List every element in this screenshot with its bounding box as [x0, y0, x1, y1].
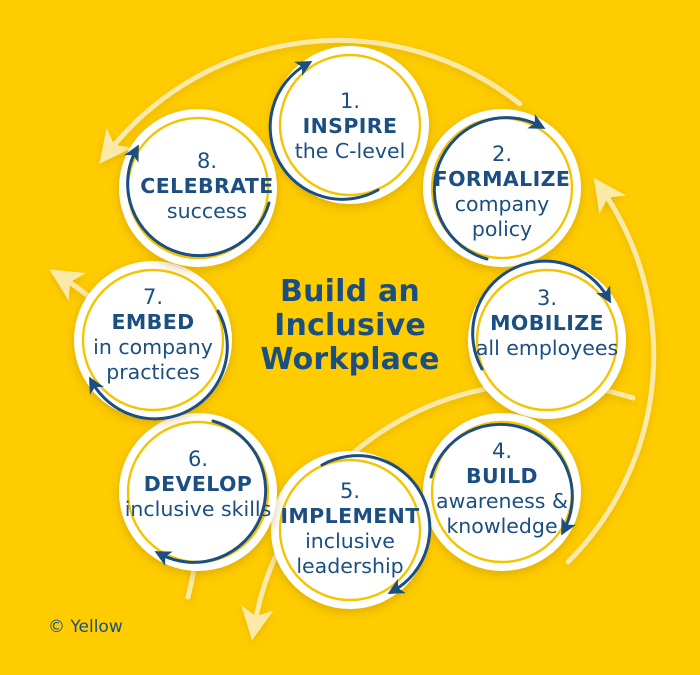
node-3-keyword: MOBILIZE: [490, 311, 604, 335]
cycle-node-3[interactable]: 3. MOBILIZE all employees: [468, 261, 626, 419]
node-4-description-line-1: awareness &: [436, 489, 568, 513]
node-7-number: 7.: [143, 285, 163, 309]
node-5-keyword: IMPLEMENT: [280, 504, 419, 528]
node-7-keyword: EMBED: [111, 310, 194, 334]
node-2-description-line-1: company: [455, 192, 549, 216]
center-title-line-2: Inclusive: [274, 308, 426, 343]
infographic-canvas: 1. INSPIRE the C-level 2. FORMALIZE comp…: [0, 0, 700, 675]
node-4-number: 4.: [492, 439, 512, 463]
cycle-node-4[interactable]: 4. BUILD awareness & knowledge: [423, 413, 581, 571]
node-7-description-line-2: practices: [106, 360, 200, 384]
cycle-node-1[interactable]: 1. INSPIRE the C-level: [270, 46, 429, 204]
center-title: Build an Inclusive Workplace: [260, 274, 439, 377]
cycle-node-7[interactable]: 7. EMBED in company practices: [74, 261, 232, 419]
center-title-line-3: Workplace: [260, 342, 439, 377]
node-6-description-line-1: inclusive skills: [125, 497, 272, 521]
node-8-description-line-1: success: [167, 199, 247, 223]
node-2-description-line-2: policy: [472, 217, 532, 241]
copyright-credit: © Yellow: [48, 617, 123, 637]
node-4-description-line-2: knowledge: [446, 514, 557, 538]
cycle-node-8[interactable]: 8. CELEBRATE success: [119, 109, 277, 267]
cycle-node-5[interactable]: 5. IMPLEMENT inclusive leadership: [271, 451, 430, 609]
node-1-keyword: INSPIRE: [303, 114, 398, 138]
node-2-keyword: FORMALIZE: [434, 167, 571, 191]
node-2-number: 2.: [492, 142, 512, 166]
node-5-description-line-2: leadership: [296, 554, 403, 578]
node-8-keyword: CELEBRATE: [140, 174, 273, 198]
node-7-description-line-1: in company: [93, 335, 213, 359]
node-1-number: 1.: [340, 89, 360, 113]
node-4-keyword: BUILD: [466, 464, 538, 488]
node-6-keyword: DEVELOP: [144, 472, 252, 496]
cycle-node-2[interactable]: 2. FORMALIZE company policy: [423, 109, 581, 267]
node-6-number: 6.: [188, 447, 208, 471]
node-3-number: 3.: [537, 286, 557, 310]
node-3-description-line-1: all employees: [476, 336, 618, 360]
node-5-number: 5.: [340, 479, 360, 503]
cycle-node-6[interactable]: 6. DEVELOP inclusive skills: [119, 413, 277, 571]
node-1-description-line-1: the C-level: [295, 139, 406, 163]
center-title-line-1: Build an: [280, 274, 420, 309]
node-8-number: 8.: [197, 149, 217, 173]
node-5-description-line-1: inclusive: [305, 529, 395, 553]
